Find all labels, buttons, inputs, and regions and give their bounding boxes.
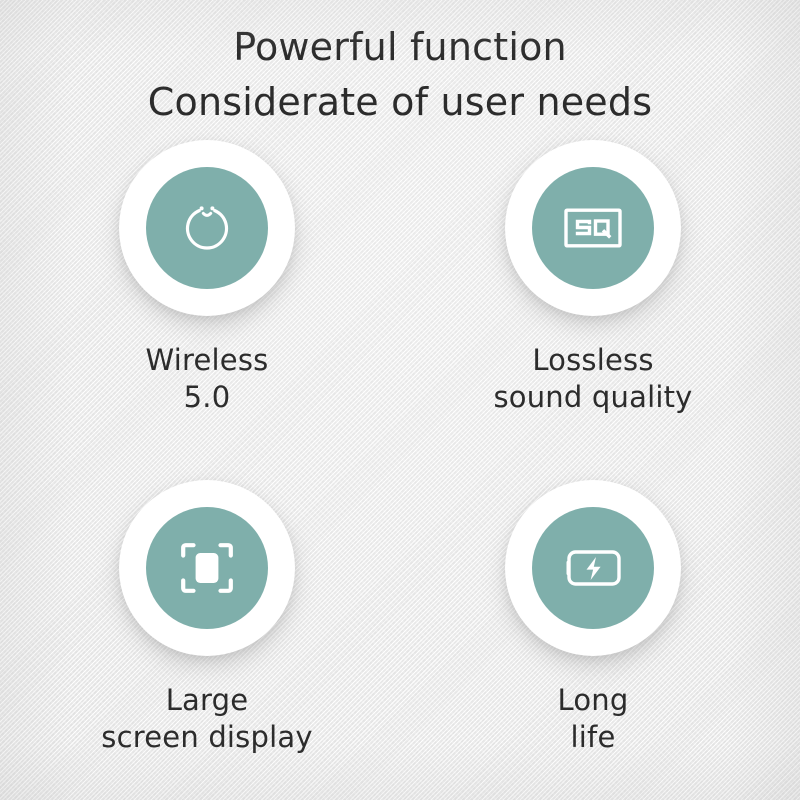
fullscreen-display-icon <box>181 543 233 593</box>
feature-caption-line-1: Wireless <box>37 342 377 379</box>
feature-caption-line-2: 5.0 <box>37 379 377 416</box>
sound-quality-sq-badge-icon <box>564 207 622 249</box>
page-title-line-2: Considerate of user needs <box>0 75 800 130</box>
feature-icon-badge <box>119 140 295 316</box>
feature-icon-badge <box>119 480 295 656</box>
feature-caption: Long life <box>423 682 763 756</box>
feature-icon-disc <box>146 167 268 289</box>
feature-caption-line-1: Lossless <box>423 342 763 379</box>
feature-caption-line-1: Large <box>37 682 377 719</box>
feature-item-wireless: Wireless 5.0 <box>37 140 377 416</box>
feature-caption-line-2: sound quality <box>423 379 763 416</box>
page-title: Powerful function Considerate of user ne… <box>0 20 800 130</box>
promo-feature-page: Powerful function Considerate of user ne… <box>0 0 800 800</box>
feature-item-lossless-sound: Lossless sound quality <box>423 140 763 416</box>
feature-icon-badge <box>505 480 681 656</box>
feature-icon-disc <box>532 507 654 629</box>
feature-item-long-life: Long life <box>423 480 763 756</box>
feature-caption-line-2: screen display <box>37 719 377 756</box>
feature-icon-disc <box>532 167 654 289</box>
earbud-smiley-ring-icon <box>176 197 238 259</box>
feature-caption-line-2: life <box>423 719 763 756</box>
feature-caption: Wireless 5.0 <box>37 342 377 416</box>
feature-icon-badge <box>505 140 681 316</box>
feature-item-large-screen: Large screen display <box>37 480 377 756</box>
feature-grid: Wireless 5.0 <box>0 140 800 800</box>
feature-caption: Large screen display <box>37 682 377 756</box>
battery-charging-icon <box>563 547 623 589</box>
page-title-line-1: Powerful function <box>0 20 800 75</box>
feature-caption: Lossless sound quality <box>423 342 763 416</box>
feature-icon-disc <box>146 507 268 629</box>
feature-caption-line-1: Long <box>423 682 763 719</box>
